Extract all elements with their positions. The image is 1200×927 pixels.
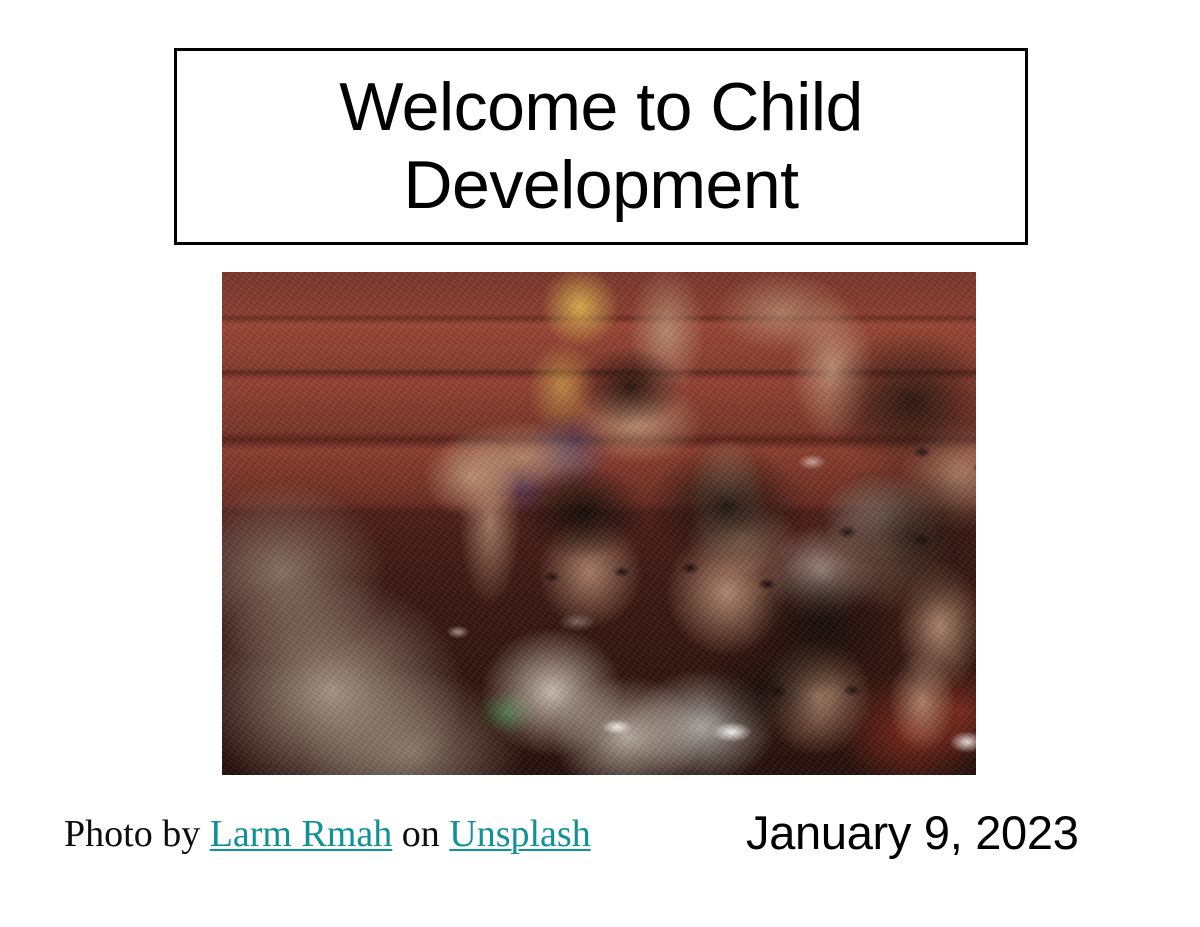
- photographer-link[interactable]: Larm Rmah: [210, 813, 393, 855]
- photo-of-children: [222, 272, 976, 775]
- title-line-1: Welcome to Child: [339, 69, 863, 145]
- slide-date: January 9, 2023: [746, 805, 1079, 860]
- unsplash-link[interactable]: Unsplash: [449, 813, 590, 855]
- credit-prefix: Photo by: [64, 813, 210, 855]
- title-box: Welcome to Child Development: [174, 48, 1028, 245]
- photo-credit: Photo by Larm Rmah on Unsplash: [64, 812, 591, 856]
- page-title: Welcome to Child Development: [321, 69, 881, 224]
- photo-image: [222, 272, 976, 775]
- slide-canvas: Welcome to Child Development Photo by La…: [0, 0, 1200, 927]
- credit-middle: on: [392, 813, 449, 855]
- title-line-2: Development: [403, 147, 798, 223]
